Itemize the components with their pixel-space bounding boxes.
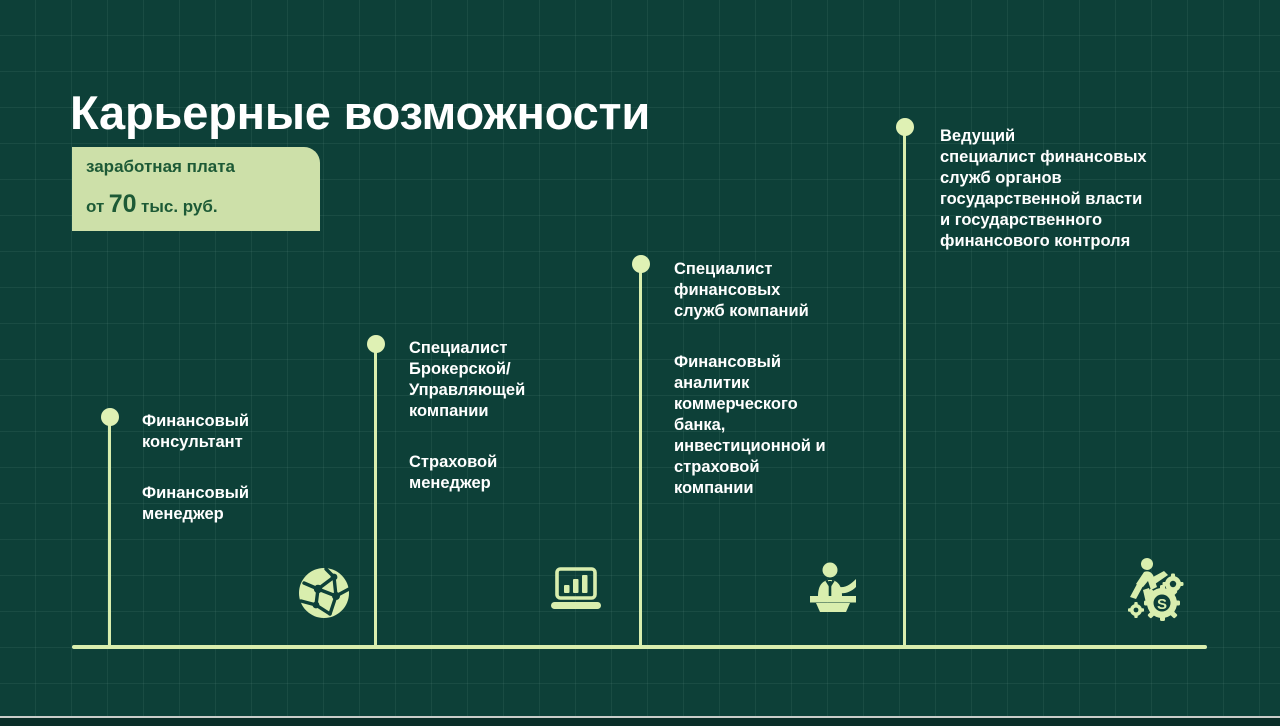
salary-amount-row: от 70 тыс. руб. <box>86 191 320 221</box>
milestone-labels: ФинансовыйконсультантФинансовыйменеджер <box>142 411 249 525</box>
milestone-stem <box>374 344 377 649</box>
job-title: Финансовыйаналитиккоммерческогобанка,инв… <box>674 352 826 499</box>
job-title: Финансовыйконсультант <box>142 411 249 453</box>
milestone-stem <box>903 127 906 649</box>
podium-speaker-icon <box>805 562 861 612</box>
job-title: СпециалистБрокерской/Управляющейкомпании <box>409 338 525 422</box>
job-title: Страховойменеджер <box>409 452 525 494</box>
salary-badge: заработная плата от 70 тыс. руб. <box>72 147 320 231</box>
milestone-dot <box>632 255 650 273</box>
milestone-labels: Ведущийспециалист финансовыхслужб органо… <box>940 126 1147 252</box>
salary-amount-prefix: от <box>86 197 104 216</box>
salary-amount-value: 70 <box>109 190 137 218</box>
milestone-dot <box>367 335 385 353</box>
laptop-chart-icon <box>550 566 602 614</box>
milestone-dot <box>101 408 119 426</box>
career-opportunities-slide: Карьерные возможности заработная плата о… <box>0 0 1280 726</box>
milestone-stem <box>108 417 111 649</box>
globe-network-icon <box>296 565 352 621</box>
page-title: Карьерные возможности <box>70 85 650 141</box>
milestone-dot <box>896 118 914 136</box>
runner-gears-dollar-icon: S <box>1125 557 1187 621</box>
salary-caption: заработная плата <box>86 156 320 178</box>
salary-amount-unit: тыс. руб. <box>141 197 218 216</box>
bottom-strip <box>0 716 1280 726</box>
milestone-stem <box>639 264 642 649</box>
milestone-labels: СпециалистБрокерской/Управляющейкомпании… <box>409 338 525 494</box>
milestone-labels: Специалистфинансовыхслужб компанийФинанс… <box>674 259 826 499</box>
job-title: Финансовыйменеджер <box>142 483 249 525</box>
svg-text:S: S <box>1157 596 1167 613</box>
job-title: Специалистфинансовыхслужб компаний <box>674 259 826 322</box>
job-title: Ведущийспециалист финансовыхслужб органо… <box>940 126 1147 252</box>
